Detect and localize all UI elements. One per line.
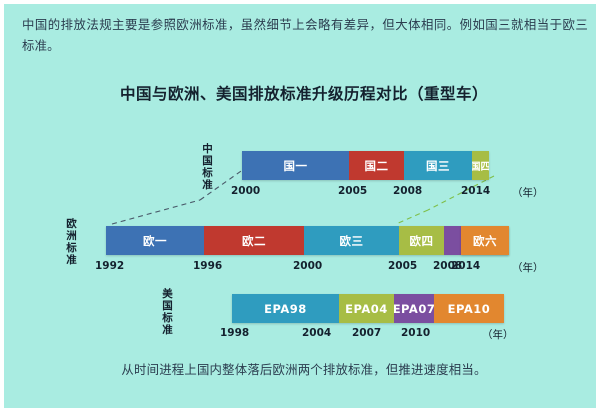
axis-unit-usa: （年） xyxy=(482,327,514,342)
tick-china-2005: 2005 xyxy=(338,185,367,197)
segment-china-3[interactable]: 国三 xyxy=(404,151,472,180)
row-label-usa: 美国标准 xyxy=(161,288,174,336)
segment-europe-4[interactable]: 欧四 xyxy=(399,226,444,255)
segment-usa-2[interactable]: EPA04 xyxy=(339,294,394,323)
segment-europe-5-spacer[interactable] xyxy=(444,226,461,255)
intro-paragraph: 中国的排放法规主要是参照欧洲标准，虽然细节上会略有差异，但大体相同。例如国三就相… xyxy=(22,14,588,56)
segment-europe-1[interactable]: 欧一 xyxy=(106,226,204,255)
tick-china-2014: 2014 xyxy=(461,185,490,197)
page-title: 中国与欧洲、美国排放标准升级历程对比（重型车） xyxy=(4,82,600,104)
tick-usa-1998: 1998 xyxy=(220,327,249,339)
tick-europe-2005: 2005 xyxy=(388,260,417,272)
timeline-bar-europe: 欧一 欧二 欧三 欧四 欧五 xyxy=(106,226,509,255)
segment-usa-1[interactable]: EPA98 xyxy=(232,294,339,323)
connector-right-lower xyxy=(396,210,428,224)
connector-lines xyxy=(4,4,600,412)
row-label-europe: 欧洲标准 xyxy=(65,218,78,266)
tick-usa-2010: 2010 xyxy=(401,327,430,339)
segment-usa-3[interactable]: EPA07 xyxy=(394,294,434,323)
connector-left-lower xyxy=(112,200,200,224)
tick-usa-2007: 2007 xyxy=(352,327,381,339)
segment-europe-6[interactable]: 欧六 xyxy=(461,226,509,255)
timeline-bar-china: 国一 国二 国三 国四 xyxy=(242,151,489,180)
tick-china-2000: 2000 xyxy=(231,185,260,197)
tick-europe-2014: 2014 xyxy=(451,260,480,272)
tick-europe-2000: 2000 xyxy=(293,260,322,272)
row-label-china: 中国标准 xyxy=(201,143,214,191)
segment-usa-4[interactable]: EPA10 xyxy=(434,294,504,323)
axis-unit-europe: （年） xyxy=(512,260,544,275)
timeline-bar-usa: EPA98 EPA04 EPA07 EPA10 xyxy=(232,294,504,323)
tick-china-2008: 2008 xyxy=(393,185,422,197)
segment-china-1[interactable]: 国一 xyxy=(242,151,349,180)
axis-unit-china: （年） xyxy=(512,185,544,200)
segment-china-4[interactable]: 国四 xyxy=(472,151,489,180)
segment-china-2[interactable]: 国二 xyxy=(349,151,404,180)
segment-europe-3[interactable]: 欧三 xyxy=(304,226,399,255)
tick-europe-1992: 1992 xyxy=(95,260,124,272)
footer-note: 从时间进程上国内整体落后欧洲两个排放标准，但推进速度相当。 xyxy=(4,360,600,378)
tick-usa-2004: 2004 xyxy=(302,327,331,339)
chart-poster: 中国的排放法规主要是参照欧洲标准，虽然细节上会略有差异，但大体相同。例如国三就相… xyxy=(0,0,600,412)
timeline-bar-europe-last: 欧六 xyxy=(461,226,509,255)
segment-europe-2[interactable]: 欧二 xyxy=(204,226,304,255)
tick-europe-1996: 1996 xyxy=(193,260,222,272)
